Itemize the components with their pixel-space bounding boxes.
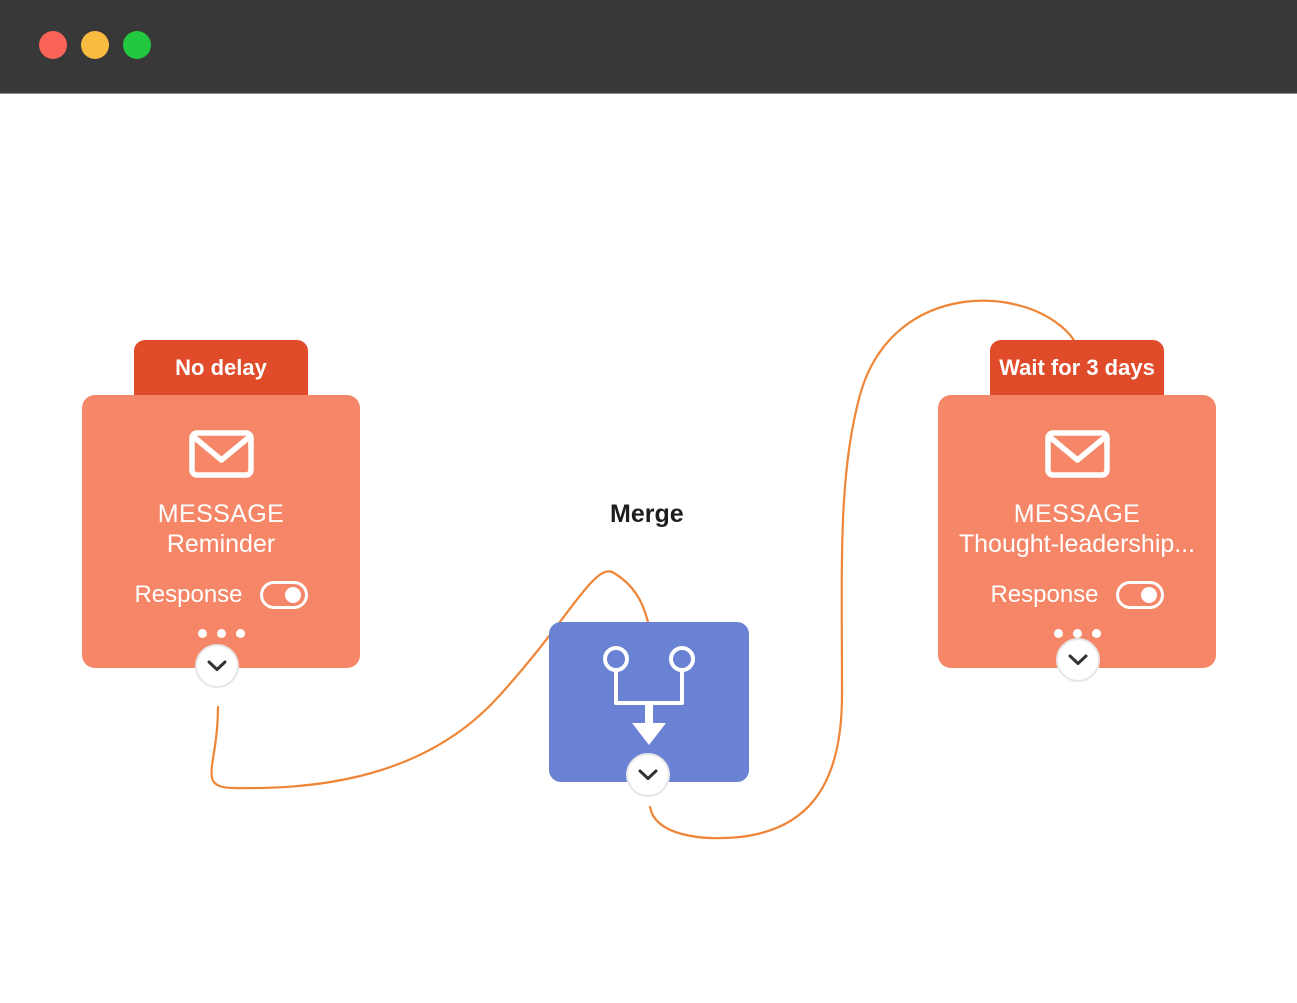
dot: [236, 629, 245, 638]
window-titlebar: [0, 0, 1297, 94]
minimize-window-button[interactable]: [81, 31, 109, 59]
expand-handle-right[interactable]: [1056, 638, 1100, 682]
chevron-down-icon: [638, 769, 658, 781]
dot: [217, 629, 226, 638]
message-type-label-left: MESSAGE: [82, 499, 360, 529]
response-toggle-right[interactable]: [1116, 581, 1164, 609]
traffic-light-group: [39, 31, 151, 59]
dot: [198, 629, 207, 638]
expand-handle-left[interactable]: [195, 644, 239, 688]
delay-badge-left-label: No delay: [175, 355, 267, 380]
dot: [1092, 629, 1101, 638]
maximize-window-button[interactable]: [123, 31, 151, 59]
message-type-label-right: MESSAGE: [938, 499, 1216, 529]
expand-handle-merge[interactable]: [626, 753, 670, 797]
response-row-right: Response: [938, 581, 1216, 609]
delay-badge-right[interactable]: Wait for 3 days: [990, 340, 1164, 396]
workflow-canvas[interactable]: No delay MESSAGE Reminder Response: [0, 95, 1297, 1003]
response-label-right: Response: [990, 581, 1098, 609]
response-label-left: Response: [134, 581, 242, 609]
envelope-icon: [1045, 430, 1110, 478]
response-row-left: Response: [82, 581, 360, 609]
message-name-label-right: Thought-leadership...: [938, 529, 1216, 559]
chevron-down-icon: [207, 660, 227, 672]
merge-title-label: Merge: [610, 500, 684, 529]
chevron-down-icon: [1068, 654, 1088, 666]
more-dots-icon-left[interactable]: [82, 629, 360, 638]
close-window-button[interactable]: [39, 31, 67, 59]
dot: [1054, 629, 1063, 638]
dot: [1073, 629, 1082, 638]
message-name-label-left: Reminder: [82, 529, 360, 559]
more-dots-icon-right[interactable]: [938, 629, 1216, 638]
merge-branches-icon: [596, 645, 702, 755]
toggle-knob: [1141, 587, 1157, 603]
envelope-icon: [189, 430, 254, 478]
response-toggle-left[interactable]: [260, 581, 308, 609]
message-card-right[interactable]: MESSAGE Thought-leadership... Response: [938, 395, 1216, 668]
delay-badge-right-label: Wait for 3 days: [999, 355, 1155, 380]
message-card-left[interactable]: MESSAGE Reminder Response: [82, 395, 360, 668]
delay-badge-left[interactable]: No delay: [134, 340, 308, 396]
toggle-knob: [285, 587, 301, 603]
